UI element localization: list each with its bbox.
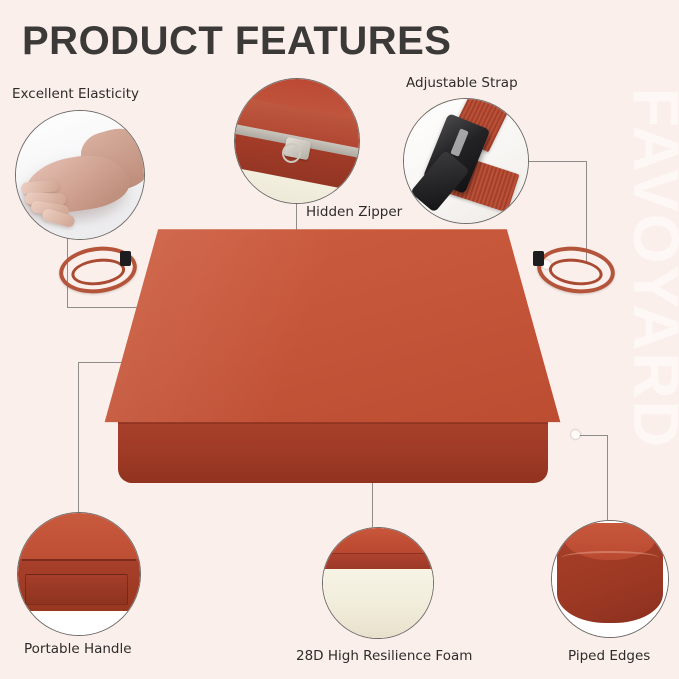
image-buckle-and-webbing [404,99,528,223]
right-loop-anchor [533,251,544,266]
connector-strap-horizontal [525,161,587,162]
infographic-canvas: FAVOYARD PRODUCT FEATURES [0,0,679,679]
image-side-handle-closeup [18,513,140,635]
image-corner-piping-closeup [552,521,668,637]
callout-excellent-elasticity[interactable] [15,110,145,240]
callout-hidden-zipper[interactable] [234,78,360,204]
left-loop-anchor [120,251,131,266]
label-foam-core: 28D High Resilience Foam [296,648,472,664]
cushion-highlight [100,225,565,437]
right-loop-inner [547,256,604,288]
label-excellent-elasticity: Excellent Elasticity [12,86,139,102]
hotspot-piping [571,430,580,439]
piping-welt-line [561,551,658,565]
connector-piping-vertical [607,435,608,520]
callout-adjustable-strap[interactable] [403,98,529,224]
handle-top-fabric [18,513,140,562]
label-hidden-zipper: Hidden Zipper [306,204,402,220]
handle-seam-upper [22,559,137,561]
image-hand-pressing-foam [16,111,144,239]
callout-piped-edges[interactable] [551,520,669,638]
cushion-side-panel [118,421,548,483]
callout-foam-core[interactable] [322,527,434,639]
foam-core-layer [323,569,433,638]
left-loop-inner [70,256,127,288]
label-adjustable-strap: Adjustable Strap [406,75,518,91]
image-zipper-closeup [235,79,359,203]
label-piped-edges: Piped Edges [568,648,650,664]
callout-portable-handle[interactable] [17,512,141,636]
product-cushion [100,225,565,490]
foam-fabric-band [323,554,433,569]
foam-fabric-top [323,528,433,557]
connector-piping-horizontal [578,435,608,436]
image-foam-cross-section [323,528,433,638]
handle-strap [25,574,128,605]
connector-handle-vertical [78,362,79,512]
label-portable-handle: Portable Handle [24,641,132,657]
